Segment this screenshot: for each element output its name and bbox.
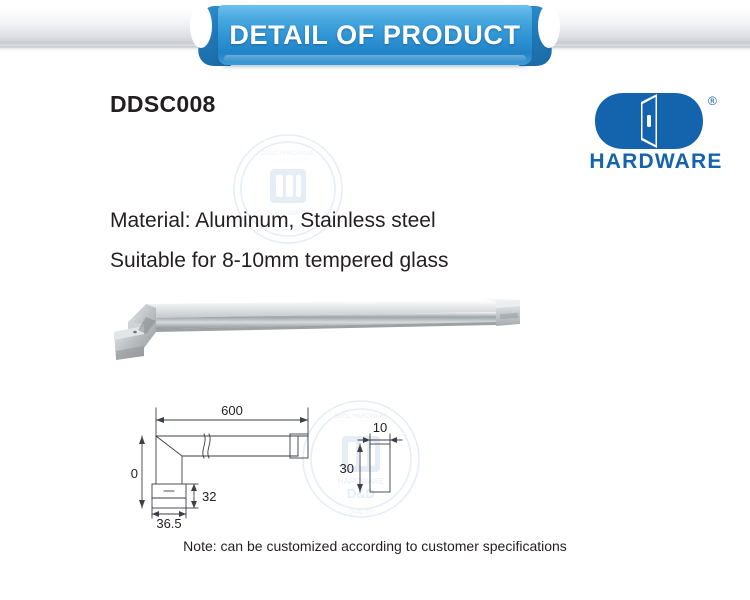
technical-drawing: 600 90 32 36.5 10 30 <box>130 398 430 528</box>
banner: DETAIL OF PRODUCT <box>0 0 750 80</box>
product-detail-page: DETAIL OF PRODUCT DDSC008 ® HARDWARE <box>0 0 750 600</box>
banner-title: DETAIL OF PRODUCT <box>218 5 532 65</box>
logo-wordmark: HARDWARE <box>586 150 726 174</box>
banner-notch-right <box>538 4 560 48</box>
dim-length: 600 <box>221 403 243 418</box>
dim-end-height: 30 <box>340 461 354 476</box>
dim-base-height: 32 <box>202 489 216 504</box>
company-logo: ® HARDWARE <box>586 92 726 182</box>
spec-material: Material: Aluminum, Stainless steel <box>110 209 436 233</box>
banner-notch-left <box>190 4 212 48</box>
spec-glass: Suitable for 8-10mm tempered glass <box>110 249 449 273</box>
double-d-door-icon <box>594 92 704 150</box>
banner-tail-left-shadow <box>0 46 222 51</box>
dim-base-width: 36.5 <box>156 516 181 528</box>
dim-height: 90 <box>130 466 138 481</box>
dim-end-width: 10 <box>373 420 387 435</box>
product-photo <box>104 288 544 360</box>
customization-note: Note: can be customized according to cus… <box>0 538 750 554</box>
product-sku: DDSC008 <box>110 91 216 118</box>
registered-trademark-icon: ® <box>708 94 717 108</box>
svg-text:DDSC HARDWARE: DDSC HARDWARE <box>261 151 314 157</box>
banner-tail-right-shadow <box>528 46 750 51</box>
